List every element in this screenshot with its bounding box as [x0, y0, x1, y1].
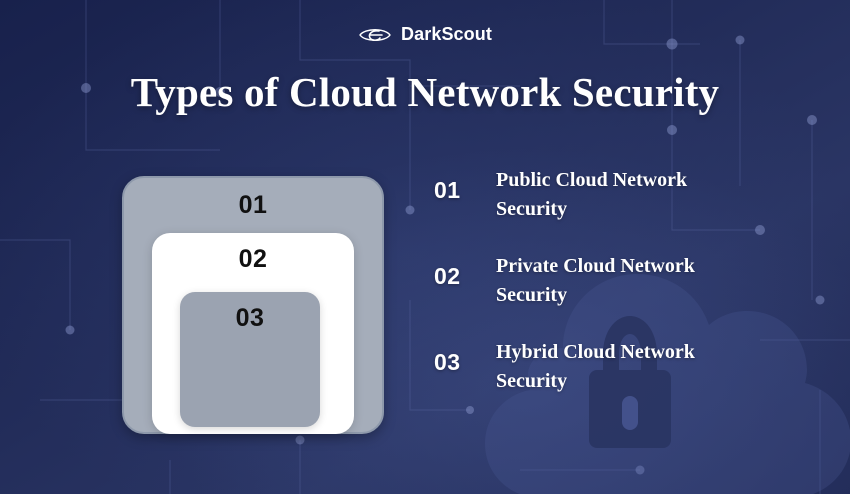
list-item: 02 Private Cloud Network Security — [434, 252, 764, 310]
list-item: 03 Hybrid Cloud Network Security — [434, 338, 764, 396]
brand-logo: DarkScout — [0, 24, 850, 45]
list-item-number: 02 — [434, 252, 478, 293]
list-item-label: Private Cloud Network Security — [496, 252, 736, 310]
diagram-box-inner: 03 — [180, 292, 320, 427]
security-types-list: 01 Public Cloud Network Security 02 Priv… — [434, 166, 764, 424]
list-item-number: 03 — [434, 338, 478, 379]
eye-lens-icon — [358, 25, 392, 45]
nested-boxes-diagram: 01 02 03 — [122, 176, 384, 434]
diagram-box-inner-label: 03 — [236, 304, 265, 427]
list-item-label: Public Cloud Network Security — [496, 166, 736, 224]
list-item-label: Hybrid Cloud Network Security — [496, 338, 736, 396]
brand-name: DarkScout — [401, 24, 492, 45]
list-item-number: 01 — [434, 166, 478, 207]
infographic-canvas: DarkScout Types of Cloud Network Securit… — [0, 0, 850, 494]
list-item: 01 Public Cloud Network Security — [434, 166, 764, 224]
page-title: Types of Cloud Network Security — [0, 68, 850, 116]
